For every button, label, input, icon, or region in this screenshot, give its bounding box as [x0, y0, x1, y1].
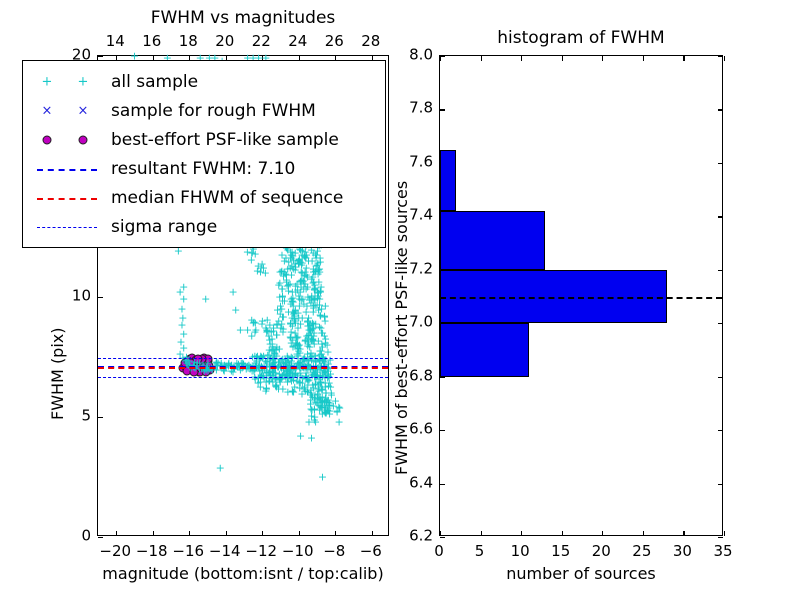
x-tick-label-top: 20: [215, 34, 234, 49]
right-panel-xlabel: number of sources: [439, 564, 723, 583]
legend-item[interactable]: sigma range: [31, 212, 375, 241]
x-tick-label-top: 26: [325, 34, 344, 49]
y-tickmark-right: [718, 377, 723, 378]
x-tickmark: [521, 531, 522, 536]
x-tickmark: [481, 531, 482, 536]
x-tick-label-top: 24: [288, 34, 307, 49]
all-sample-point: +: [307, 433, 316, 444]
x-tick-label: −10: [282, 544, 314, 559]
all-sample-point: +: [311, 417, 320, 428]
x-tick-label: 20: [592, 544, 611, 559]
x-tick-label: −20: [99, 544, 131, 559]
right-panel-ylabel: FWHM of best-effort PSF-like sources: [392, 181, 411, 475]
y-tickmark: [440, 537, 445, 538]
sigma-range-lower-line: [98, 377, 388, 378]
histogram-bar: [440, 150, 456, 211]
legend-key-dashed-blue: [31, 159, 107, 179]
x-tickmark: [189, 531, 190, 536]
y-tickmark-right: [718, 56, 723, 57]
x-tickmark-top: [481, 56, 482, 61]
y-tickmark: [98, 297, 103, 298]
legend-item[interactable]: ×× sample for rough FWHM: [31, 96, 375, 125]
x-tickmark: [153, 531, 154, 536]
left-panel-ylabel: FWHM (pix): [48, 328, 67, 421]
legend-key-plus: ++: [31, 72, 107, 92]
legend-item[interactable]: median FHWM of sequence: [31, 183, 375, 212]
x-tickmark-top: [683, 56, 684, 61]
x-tick-label: 25: [632, 544, 651, 559]
x-tickmark-top: [602, 56, 603, 61]
y-tickmark: [440, 56, 445, 57]
x-tick-label: −14: [209, 544, 241, 559]
all-sample-point: +: [247, 247, 256, 258]
x-tick-label: −12: [245, 544, 277, 559]
x-tick-label: −18: [136, 544, 168, 559]
y-tickmark-right: [718, 270, 723, 271]
legend-label: resultant FWHM: 7.10: [107, 159, 295, 179]
right-panel-axes: [439, 55, 723, 536]
x-tick-label: 35: [713, 544, 732, 559]
x-tickmark: [724, 531, 725, 536]
y-tick-label: 7.8: [393, 101, 433, 116]
x-tickmark-top: [521, 56, 522, 61]
y-tickmark-right: [718, 484, 723, 485]
x-tick-label-top: 14: [106, 34, 125, 49]
y-tickmark-right: [718, 163, 723, 164]
x-tick-label: −16: [172, 544, 204, 559]
legend-item[interactable]: ++ all sample: [31, 67, 375, 96]
x-tick-label: 5: [475, 544, 485, 559]
legend-key-dashed-red: [31, 188, 107, 208]
legend-item[interactable]: resultant FWHM: 7.10: [31, 154, 375, 183]
y-tickmark-right: [718, 109, 723, 110]
y-tick-label: 10: [59, 288, 91, 303]
x-tick-label-top: 28: [361, 34, 380, 49]
x-tickmark-top: [562, 56, 563, 61]
x-tick-label: −6: [360, 544, 382, 559]
legend-key-dashdot-blue: [31, 217, 107, 237]
histogram-bar: [440, 323, 529, 376]
left-panel-xlabel: magnitude (bottom:isnt / top:calib): [97, 564, 389, 583]
x-tickmark: [643, 531, 644, 536]
all-sample-point: +: [315, 266, 324, 277]
x-tickmark: [116, 531, 117, 536]
x-tick-label-top: 22: [252, 34, 271, 49]
y-tick-label: 6.4: [393, 475, 433, 490]
x-tickmark-top: [643, 56, 644, 61]
left-panel-legend: ++ all sample ×× sample for rough FWHM b…: [22, 60, 386, 248]
legend-key-cross: ××: [31, 101, 107, 121]
x-tickmark: [299, 531, 300, 536]
x-tick-label: 15: [551, 544, 570, 559]
all-sample-point: +: [257, 263, 266, 274]
x-tickmark-top: [724, 56, 725, 61]
x-tickmark: [372, 531, 373, 536]
y-tickmark: [440, 484, 445, 485]
legend-label: all sample: [107, 72, 198, 92]
x-tick-label: 30: [673, 544, 692, 559]
median-fwhm-line: [98, 367, 388, 369]
legend-item[interactable]: best-effort PSF-like sample: [31, 125, 375, 154]
all-sample-point: +: [309, 248, 318, 259]
x-tickmark: [440, 531, 441, 536]
legend-label: median FHWM of sequence: [107, 188, 343, 208]
y-tickmark: [98, 56, 103, 57]
x-tick-label-top: 18: [179, 34, 198, 49]
y-tick-label: 6.2: [393, 529, 433, 544]
x-tick-label: −8: [323, 544, 345, 559]
all-sample-point: +: [228, 286, 237, 297]
x-tick-label-top: 16: [142, 34, 161, 49]
all-sample-point: +: [201, 293, 210, 304]
y-tickmark-right: [718, 216, 723, 217]
all-sample-point: +: [318, 471, 327, 482]
x-tickmark: [335, 531, 336, 536]
x-tickmark: [226, 531, 227, 536]
all-sample-point: +: [216, 463, 225, 474]
x-tick-label: 10: [511, 544, 530, 559]
right-panel-title: histogram of FWHM: [439, 28, 723, 48]
all-sample-point: +: [291, 317, 300, 328]
x-tickmark: [683, 531, 684, 536]
all-sample-point: +: [231, 304, 240, 315]
all-sample-point: +: [296, 430, 305, 441]
y-tickmark: [440, 377, 445, 378]
all-sample-point: +: [331, 396, 340, 407]
legend-label: best-effort PSF-like sample: [107, 130, 339, 150]
all-sample-point: +: [288, 342, 297, 353]
y-tickmark: [98, 417, 103, 418]
y-tickmark-right: [718, 323, 723, 324]
y-tickmark: [440, 430, 445, 431]
matplotlib-figure: FWHM vs magnitudes 1416182022242628 −20−…: [0, 0, 800, 600]
y-tick-label: 7.6: [393, 154, 433, 169]
legend-label: sigma range: [107, 217, 217, 237]
histogram-bar: [440, 211, 545, 270]
y-tick-label: 0: [59, 529, 91, 544]
legend-label: sample for rough FWHM: [107, 101, 316, 121]
all-sample-point: +: [320, 310, 329, 321]
y-tickmark: [440, 109, 445, 110]
x-tickmark: [262, 531, 263, 536]
reference-fwhm-line: [440, 297, 722, 299]
left-panel-title: FWHM vs magnitudes: [97, 8, 389, 28]
y-tick-label: 8.0: [393, 48, 433, 63]
sigma-range-upper-line: [98, 358, 388, 359]
x-tick-label: 0: [434, 544, 444, 559]
y-tickmark-right: [718, 430, 723, 431]
legend-key-circle: [31, 130, 107, 150]
y-tickmark-right: [718, 537, 723, 538]
y-tickmark: [98, 537, 103, 538]
all-sample-point: +: [256, 377, 265, 388]
x-tickmark: [602, 531, 603, 536]
x-tickmark: [562, 531, 563, 536]
